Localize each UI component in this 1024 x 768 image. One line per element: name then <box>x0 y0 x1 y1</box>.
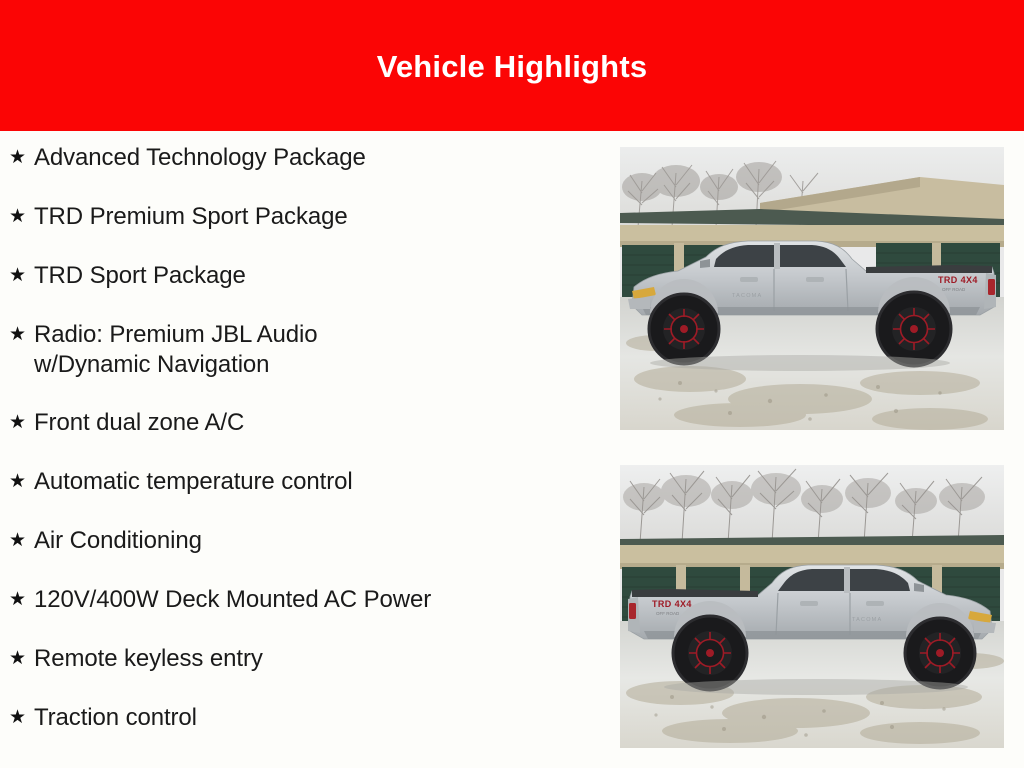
list-item: ★ Advanced Technology Package <box>0 143 600 173</box>
vehicle-photo-passenger-side[interactable]: TRD 4X4 OFF ROAD TACOMA <box>620 465 1004 748</box>
list-item-label: Remote keyless entry <box>34 644 263 674</box>
rear-wheel <box>876 291 952 367</box>
list-item-label: Front dual zone A/C <box>34 408 244 438</box>
list-item-label: Air Conditioning <box>34 526 202 556</box>
list-item-label: Radio: Premium JBL Audio w/Dynamic Navig… <box>34 320 414 380</box>
vehicle-photo-gallery: TRD 4X4 OFF ROAD TACOMA <box>620 131 1004 748</box>
list-item: ★ Air Conditioning <box>0 526 600 556</box>
list-item-label: Advanced Technology Package <box>34 143 366 173</box>
star-bullet-icon: ★ <box>0 143 34 173</box>
svg-text:OFF ROAD: OFF ROAD <box>942 287 966 292</box>
front-wheel <box>648 293 720 365</box>
star-bullet-icon: ★ <box>0 408 34 438</box>
star-bullet-icon: ★ <box>0 202 34 232</box>
svg-text:TACOMA: TACOMA <box>732 293 762 299</box>
list-item-label: 120V/400W Deck Mounted AC Power <box>34 585 431 615</box>
content-area: ★ Advanced Technology Package ★ TRD Prem… <box>0 131 1024 768</box>
svg-text:OFF ROAD: OFF ROAD <box>656 611 680 616</box>
list-item: ★ TRD Premium Sport Package <box>0 202 600 232</box>
vehicle-features-list: ★ Advanced Technology Package ★ TRD Prem… <box>0 131 600 762</box>
svg-text:TRD 4X4: TRD 4X4 <box>938 275 978 285</box>
star-bullet-icon: ★ <box>0 585 34 615</box>
star-bullet-icon: ★ <box>0 703 34 733</box>
star-bullet-icon: ★ <box>0 261 34 291</box>
star-bullet-icon: ★ <box>0 320 34 350</box>
list-item-label: Traction control <box>34 703 197 733</box>
star-bullet-icon: ★ <box>0 526 34 556</box>
star-bullet-icon: ★ <box>0 467 34 497</box>
list-item: ★ Radio: Premium JBL Audio w/Dynamic Nav… <box>0 320 600 380</box>
list-item: ★ TRD Sport Package <box>0 261 600 291</box>
list-item: ★ Remote keyless entry <box>0 644 600 674</box>
list-item-label: TRD Premium Sport Package <box>34 202 348 232</box>
front-wheel <box>904 617 976 689</box>
list-item: ★ Automatic temperature control <box>0 467 600 497</box>
vehicle-photo-driver-side[interactable]: TRD 4X4 OFF ROAD TACOMA <box>620 147 1004 430</box>
list-item: ★ Front dual zone A/C <box>0 408 600 438</box>
star-bullet-icon: ★ <box>0 644 34 674</box>
rear-wheel <box>672 615 748 691</box>
svg-text:TRD 4X4: TRD 4X4 <box>652 599 692 609</box>
list-item-label: Automatic temperature control <box>34 467 353 497</box>
list-item: ★ Traction control <box>0 703 600 733</box>
svg-text:TACOMA: TACOMA <box>852 617 882 623</box>
list-item-label: TRD Sport Package <box>34 261 246 291</box>
page-title: Vehicle Highlights <box>377 51 648 82</box>
list-item: ★ 120V/400W Deck Mounted AC Power <box>0 585 600 615</box>
header-banner: Vehicle Highlights <box>0 0 1024 131</box>
